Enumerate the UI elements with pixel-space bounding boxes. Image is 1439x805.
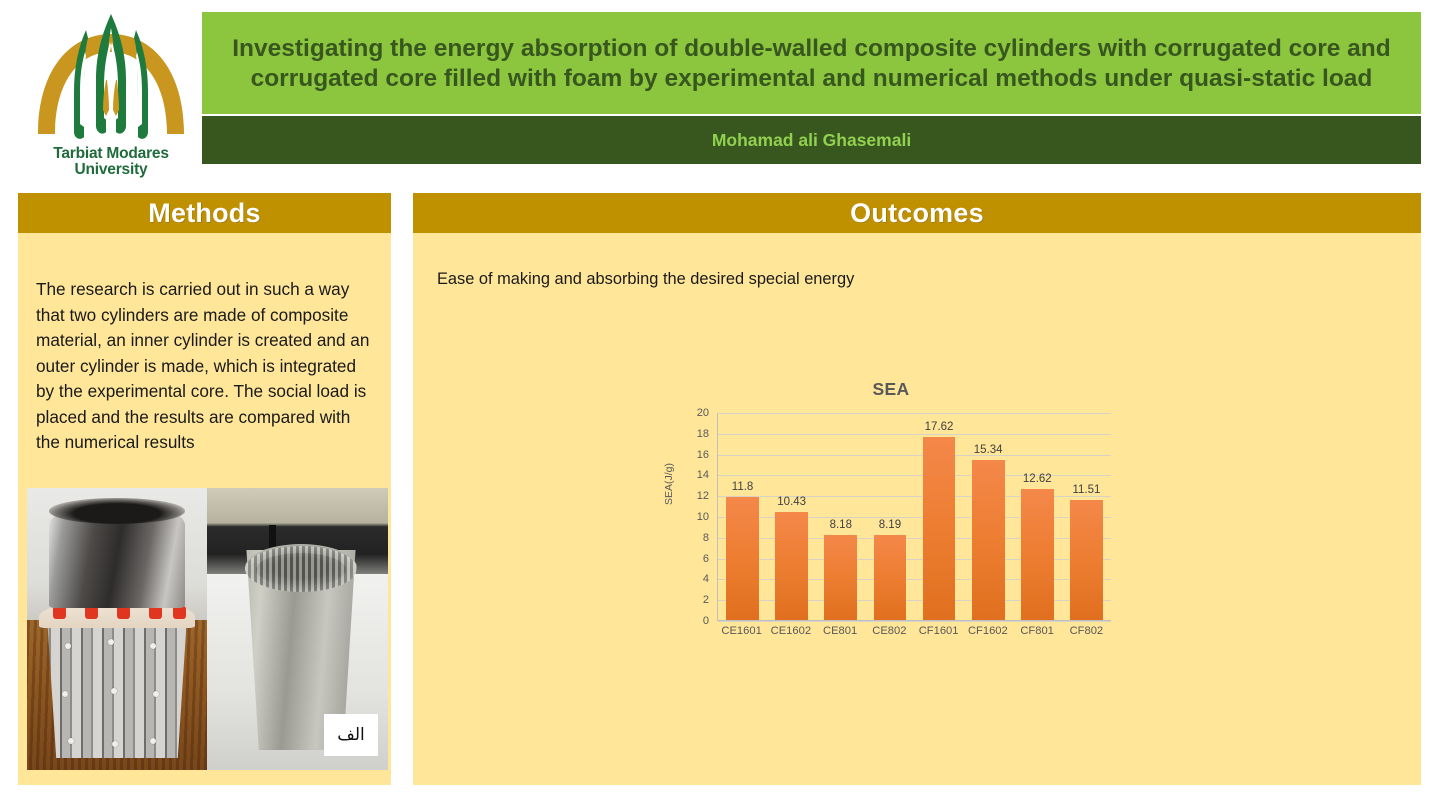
methods-header-label: Methods — [148, 198, 260, 229]
chart-grid-line — [718, 621, 1111, 622]
chart-bar-slot: 8.18 — [818, 413, 864, 620]
photo-inner-corrugated-cylinder: الف — [207, 488, 388, 770]
poster-title-banner: Investigating the energy absorption of d… — [202, 12, 1421, 114]
chart-bar[interactable] — [874, 535, 907, 620]
chart-bar-slot: 12.62 — [1015, 413, 1061, 620]
photo-corrugated-cylinder-assembly — [27, 488, 207, 770]
chart-bar-value-label: 17.62 — [925, 421, 954, 433]
poster-title: Investigating the energy absorption of d… — [222, 34, 1401, 94]
methods-panel: The research is carried out in such a wa… — [18, 233, 391, 785]
chart-y-tick: 14 — [697, 469, 709, 481]
chart-bar[interactable] — [972, 460, 1005, 620]
chart-bar[interactable] — [726, 497, 759, 620]
logo-text-line1: Tarbiat Modares — [22, 146, 200, 162]
chart-bar-value-label: 11.51 — [1072, 484, 1100, 496]
chart-y-axis-ticks: 02468101214161820 — [677, 413, 713, 621]
author-name: Mohamad ali Ghasemali — [712, 130, 911, 151]
chart-x-tick-label: CF1601 — [916, 625, 962, 637]
chart-bar-value-label: 12.62 — [1023, 473, 1052, 485]
chart-x-axis-line — [718, 620, 1111, 621]
author-banner: Mohamad ali Ghasemali — [202, 116, 1421, 164]
chart-bar-slot: 17.62 — [916, 413, 962, 620]
chart-y-tick: 18 — [697, 428, 709, 440]
chart-bar-slot: 11.51 — [1064, 413, 1110, 620]
chart-y-tick: 2 — [703, 594, 709, 606]
outcomes-body-text: Ease of making and absorbing the desired… — [437, 267, 857, 292]
chart-y-axis-label: SEA(J/g) — [663, 463, 675, 505]
methods-body-text: The research is carried out in such a wa… — [36, 277, 376, 456]
poster-canvas: Tarbiat Modares University Investigating… — [0, 0, 1439, 805]
outcomes-section-header: Outcomes — [413, 193, 1421, 233]
chart-x-tick-label: CE1601 — [719, 625, 765, 637]
cylinder-body-shape — [41, 618, 193, 758]
chart-x-tick-label: CF1602 — [965, 625, 1011, 637]
sea-bar-chart: SEA SEA(J/g) 02468101214161820 11.810.43… — [661, 373, 1121, 663]
methods-section-header: Methods — [18, 193, 391, 233]
chart-bar-slot: 10.43 — [769, 413, 815, 620]
chart-y-tick: 8 — [703, 532, 709, 544]
chart-y-tick: 12 — [697, 490, 709, 502]
chart-x-axis-labels: CE1601CE1602CE801CE802CF1601CF1602CF801C… — [717, 625, 1111, 637]
chart-x-tick-label: CE1602 — [768, 625, 814, 637]
chart-x-tick-label: CF801 — [1014, 625, 1060, 637]
logo-text-line2: University — [22, 162, 200, 178]
chart-y-tick: 16 — [697, 449, 709, 461]
chart-y-tick: 6 — [703, 553, 709, 565]
chart-plot-area: 11.810.438.188.1917.6215.3412.6211.51 — [717, 413, 1111, 621]
chart-bar-slot: 11.8 — [720, 413, 766, 620]
chart-title: SEA — [661, 379, 1121, 400]
outcomes-panel: Ease of making and absorbing the desired… — [413, 233, 1421, 785]
chart-bar-value-label: 11.8 — [732, 481, 754, 493]
chart-bar-value-label: 15.34 — [974, 444, 1003, 456]
chart-bar-value-label: 8.19 — [879, 519, 901, 531]
chart-y-tick: 0 — [703, 615, 709, 627]
chart-y-tick: 10 — [697, 511, 709, 523]
chart-bars-group: 11.810.438.188.1917.6215.3412.6211.51 — [718, 413, 1111, 620]
university-logo: Tarbiat Modares University — [22, 8, 200, 180]
logo-mark-icon — [22, 8, 200, 148]
figure-caption-label: الف — [337, 725, 365, 745]
methods-figure-group: الف — [27, 488, 388, 770]
chart-x-tick-label: CF802 — [1064, 625, 1110, 637]
chart-bar-slot: 15.34 — [965, 413, 1011, 620]
chart-bar[interactable] — [775, 512, 808, 620]
chart-bar-value-label: 8.18 — [830, 519, 852, 531]
chart-y-tick: 20 — [697, 407, 709, 419]
chart-x-tick-label: CE802 — [867, 625, 913, 637]
chart-bar[interactable] — [1070, 500, 1103, 620]
chart-bar[interactable] — [1021, 489, 1054, 620]
outcomes-header-label: Outcomes — [850, 198, 984, 229]
chart-bar-value-label: 10.43 — [777, 496, 806, 508]
chart-bar[interactable] — [824, 535, 857, 620]
chart-y-tick: 4 — [703, 573, 709, 585]
chart-x-tick-label: CE801 — [817, 625, 863, 637]
figure-caption-box: الف — [324, 714, 378, 756]
chart-bar[interactable] — [923, 437, 956, 620]
chart-bar-slot: 8.19 — [867, 413, 913, 620]
